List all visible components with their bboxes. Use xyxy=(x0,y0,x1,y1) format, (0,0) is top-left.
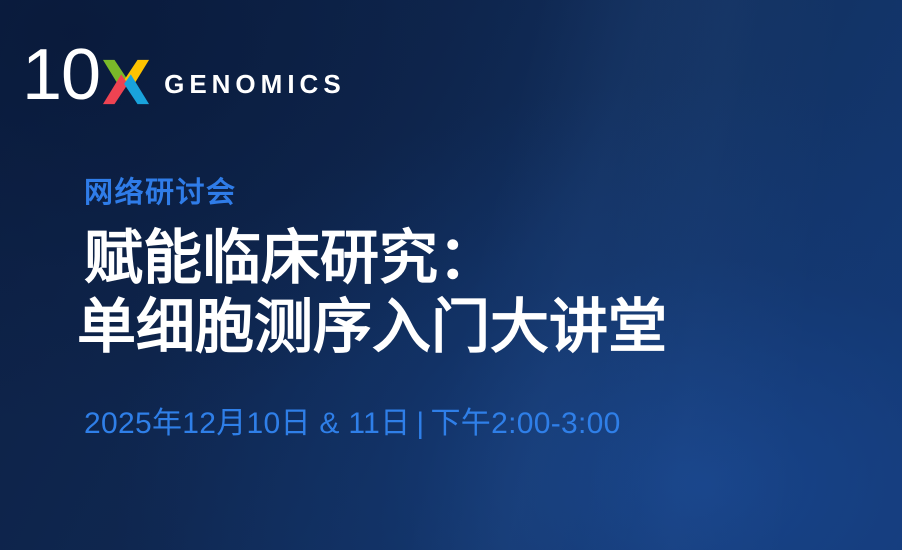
headline-line-1: 赋能临床研究： xyxy=(84,225,497,291)
headline-line-2: 单细胞测序入门大讲堂 xyxy=(77,293,884,362)
event-date-text: 2025年12月10日 & 11日 xyxy=(84,407,410,440)
event-time-text: 下午2:00-3:00 xyxy=(431,407,621,440)
datetime-separator: | xyxy=(410,407,430,441)
logo-number-text: 10 xyxy=(22,39,100,111)
banner-content: 网络研讨会 赋能临床研究： 单细胞测序入门大讲堂 2025年12月10日 & 1… xyxy=(84,178,884,442)
event-datetime: 2025年12月10日 & 11日|下午2:00-3:00 xyxy=(84,398,884,442)
brand-logo: 10 GENOMICS xyxy=(22,44,346,110)
logo-x-mark-icon xyxy=(102,58,150,106)
webinar-banner: 10 GENOMICS 网络研讨会 赋能临床研究： 单细胞测序入门大讲堂 202… xyxy=(0,0,902,550)
logo-wordmark-text: GENOMICS xyxy=(164,69,346,100)
page-title: 赋能临床研究： 单细胞测序入门大讲堂 xyxy=(84,224,884,362)
eyebrow-label: 网络研讨会 xyxy=(84,178,884,210)
